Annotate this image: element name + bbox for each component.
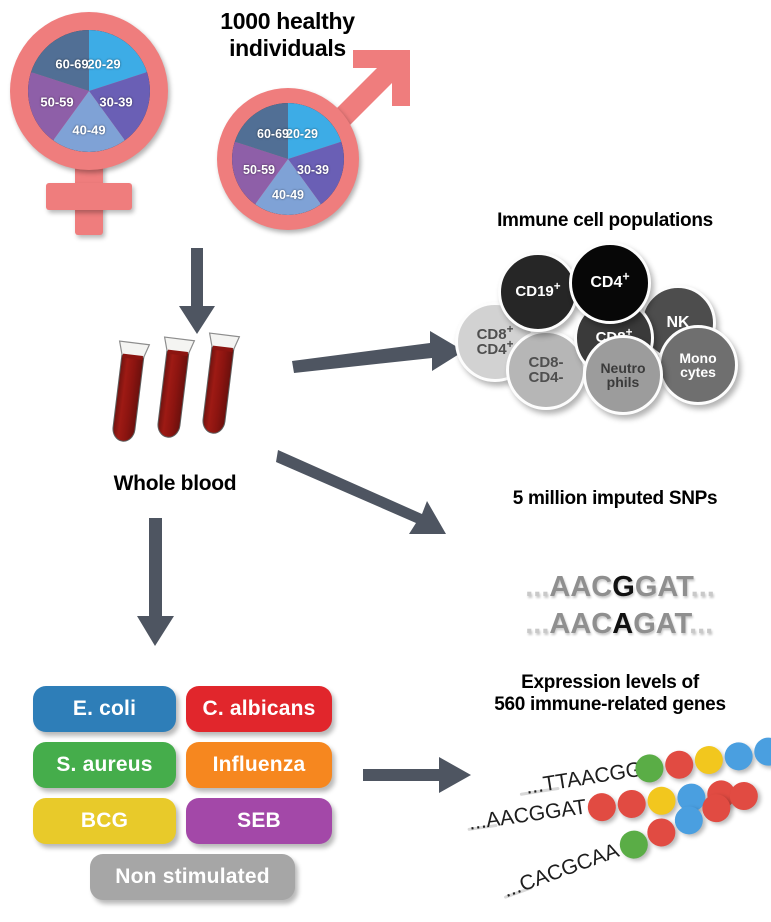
- stimulus-influenza[interactable]: Influenza: [186, 742, 332, 788]
- blood-tubes: [110, 335, 240, 450]
- cell-neutrophils: Neutrophils: [583, 335, 663, 415]
- cell-label: Neutrophils: [600, 361, 645, 390]
- arrow-stimuli-to-expression: [363, 757, 473, 797]
- female-label-60-69: 60-69: [55, 57, 88, 72]
- snp-variant: A: [612, 608, 633, 640]
- bead: [586, 791, 618, 823]
- cell-cd19: CD19+: [498, 252, 578, 332]
- stimulus-non-stimulated[interactable]: Non stimulated: [90, 854, 295, 900]
- bead: [646, 785, 678, 817]
- arrow-blood-to-snps: [276, 448, 456, 548]
- male-label-20-29: 20-29: [286, 127, 318, 141]
- stimulus-e-coli[interactable]: E. coli: [33, 686, 176, 732]
- stimulus-bcg[interactable]: BCG: [33, 798, 176, 844]
- stimulus-label: Non stimulated: [115, 865, 269, 889]
- snp-suffix: ...: [689, 608, 713, 640]
- bead: [723, 740, 755, 772]
- stimulus-label: E. coli: [73, 697, 136, 721]
- female-label-30-39: 30-39: [99, 95, 132, 110]
- male-label-40-49: 40-49: [272, 188, 304, 202]
- expression-title-line1: Expression levels of: [521, 672, 699, 693]
- strand-sequence: ...CACGCAA: [500, 839, 622, 903]
- cell-label: CD19+: [515, 284, 560, 299]
- male-label-60-69: 60-69: [257, 127, 289, 141]
- stimulus-label: S. aureus: [56, 753, 152, 777]
- female-label-40-49: 40-49: [72, 123, 105, 138]
- arrow-blood-to-immune: [292, 325, 467, 385]
- stimulus-label: SEB: [237, 809, 281, 833]
- cell-cd4: CD4+: [569, 242, 651, 324]
- expression-title: Expression levels of 560 immune-related …: [455, 672, 765, 717]
- snp-tail: GAT: [633, 608, 689, 640]
- snp-lead: AAC: [549, 608, 612, 640]
- male-age-pie: 20-29 30-39 40-49 50-59 60-69: [232, 103, 344, 215]
- female-symbol-cross: [46, 183, 132, 210]
- arrow-blood-to-stimuli: [136, 518, 176, 648]
- stimulus-label: BCG: [81, 809, 128, 833]
- bead: [693, 744, 725, 776]
- female-age-pie: 20-29 30-39 40-49 50-59 60-69: [28, 30, 150, 152]
- bead: [663, 749, 695, 781]
- male-label-50-59: 50-59: [243, 163, 275, 177]
- cell-label: CD8+CD4+: [477, 327, 514, 358]
- stimulus-seb[interactable]: SEB: [186, 798, 332, 844]
- female-symbol: 20-29 30-39 40-49 50-59 60-69: [8, 10, 188, 240]
- immune-title: Immune cell populations: [455, 210, 755, 232]
- cell-label: CD8-CD4-: [528, 355, 563, 386]
- cell-label: CD4+: [590, 275, 629, 291]
- expression-title-line2: 560 immune-related genes: [494, 694, 725, 715]
- arrow-cohort-to-blood: [177, 248, 217, 338]
- female-label-20-29: 20-29: [87, 57, 120, 72]
- cell-label: Monocytes: [679, 351, 716, 380]
- stimulus-s-aureus[interactable]: S. aureus: [33, 742, 176, 788]
- stimulus-label: C. albicans: [202, 697, 315, 721]
- stimulus-label: Influenza: [213, 753, 306, 777]
- male-label-30-39: 30-39: [297, 163, 329, 177]
- whole-blood-label: Whole blood: [60, 472, 290, 497]
- snp-prefix: ...: [525, 608, 549, 640]
- bead: [616, 788, 648, 820]
- stimulus-c-albicans[interactable]: C. albicans: [186, 686, 332, 732]
- immune-cell-cluster: CD8+CD4+ CD19+ CD4+ CD8-CD4- CD8+ NK Neu…: [450, 240, 770, 415]
- snps-title: 5 million imputed SNPs: [470, 488, 760, 510]
- diagram-canvas: 1000 healthy individuals 20-29 30-39 40-…: [0, 0, 771, 922]
- bead: [752, 736, 771, 768]
- male-symbol: 20-29 30-39 40-49 50-59 60-69: [205, 40, 420, 240]
- snp-sequence-row: ...AACAGAT...: [493, 575, 713, 674]
- cell-monocytes: Monocytes: [658, 325, 738, 405]
- female-label-50-59: 50-59: [40, 95, 73, 110]
